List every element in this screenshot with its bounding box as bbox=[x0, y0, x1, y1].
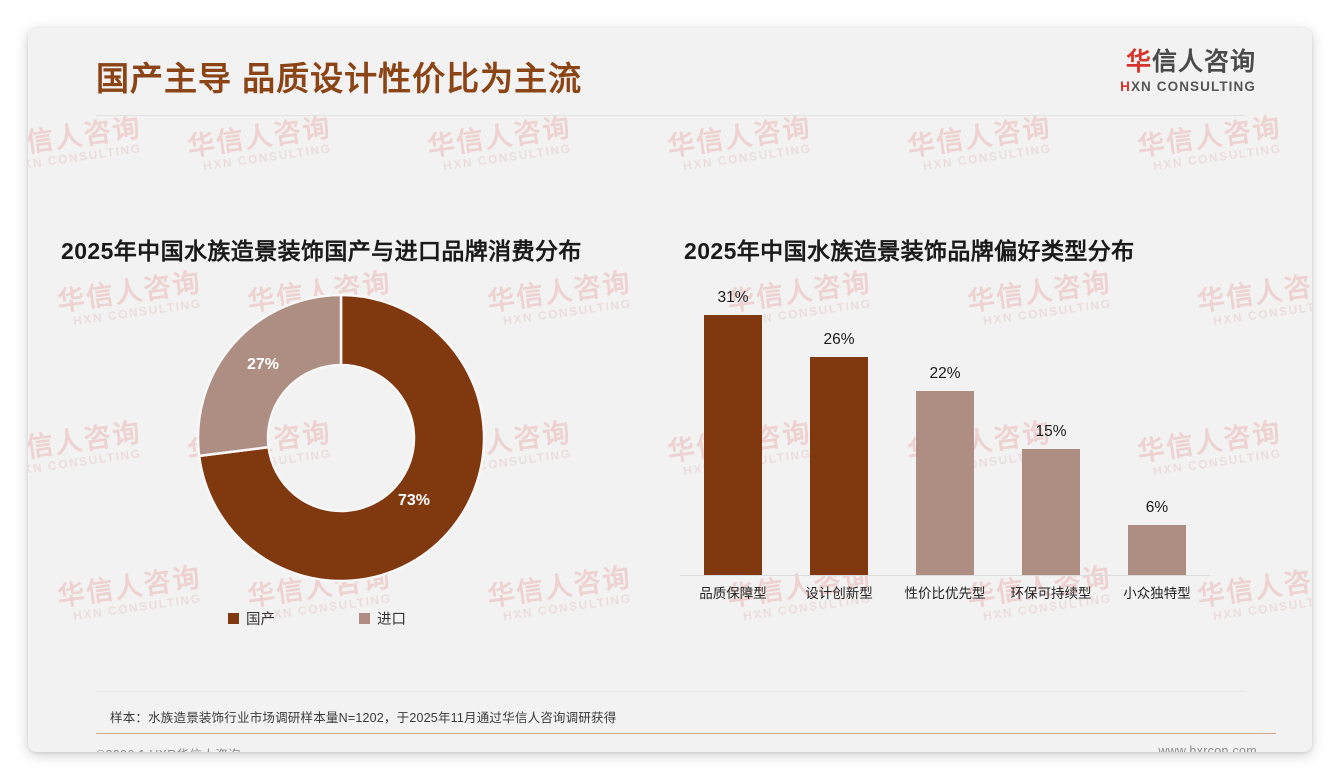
copyright-text: ©2026.1 HXR华信人咨询 bbox=[96, 744, 241, 752]
watermark: 华信人咨询HXN CONSULTING bbox=[666, 113, 815, 175]
bar-category-label: 设计创新型 bbox=[784, 582, 894, 602]
logo-cn-rest: 信人咨询 bbox=[1152, 48, 1256, 76]
logo-accent-char: 华 bbox=[1126, 48, 1152, 76]
bar-chart-title: 2025年中国水族造景装饰品牌偏好类型分布 bbox=[684, 232, 1135, 266]
watermark-en: HXN CONSULTING bbox=[200, 141, 336, 174]
watermark: 华信人咨询HXN CONSULTING bbox=[28, 113, 145, 175]
watermark-cn: 华信人咨询 bbox=[28, 113, 143, 161]
bar-column: 6% bbox=[1107, 290, 1207, 575]
slide-footer: ©2026.1 HXR华信人咨询 www.hxrcon.com bbox=[28, 740, 1312, 752]
logo-en-rest: XN CONSULTING bbox=[1131, 79, 1256, 94]
bar-column: 15% bbox=[1001, 290, 1101, 575]
legend-swatch-imported bbox=[359, 613, 370, 624]
bar-value-label: 15% bbox=[1001, 423, 1101, 441]
watermark-cn: 华信人咨询 bbox=[186, 113, 334, 161]
note-divider-top bbox=[96, 691, 1246, 692]
bar-value-label: 31% bbox=[683, 289, 783, 307]
watermark-en: HXN CONSULTING bbox=[920, 141, 1056, 174]
bar-2[interactable] bbox=[810, 357, 868, 575]
bar-value-label: 6% bbox=[1107, 499, 1207, 517]
company-logo: 华信人咨询 HXN CONSULTING bbox=[1120, 48, 1256, 94]
header-divider bbox=[96, 115, 1246, 116]
watermark-en: HXN CONSULTING bbox=[680, 141, 816, 174]
legend-label-imported: 进口 bbox=[377, 608, 406, 629]
watermark: 华信人咨询HXN CONSULTING bbox=[426, 113, 575, 175]
bar-category-label: 品质保障型 bbox=[678, 582, 788, 602]
donut-slice-imported[interactable] bbox=[198, 295, 341, 456]
slide: 华信人咨询HXN CONSULTING华信人咨询HXN CONSULTING华信… bbox=[28, 28, 1312, 752]
sample-note: 样本：水族造景装饰行业市场调研样本量N=1202，于2025年11月通过华信人咨… bbox=[110, 707, 616, 726]
watermark-cn: 华信人咨询 bbox=[906, 113, 1054, 161]
bar-5[interactable] bbox=[1128, 525, 1186, 575]
bar-column: 31% bbox=[683, 290, 783, 575]
legend-label-domestic: 国产 bbox=[246, 608, 275, 629]
watermark: 华信人咨询HXN CONSULTING bbox=[186, 113, 335, 175]
legend-item-imported[interactable]: 进口 bbox=[359, 608, 406, 629]
bar-4[interactable] bbox=[1022, 449, 1080, 575]
bar-value-label: 22% bbox=[895, 365, 995, 383]
bar-category-label: 环保可持续型 bbox=[996, 582, 1106, 602]
logo-cn-text: 华信人咨询 bbox=[1120, 48, 1256, 77]
logo-en-text: HXN CONSULTING bbox=[1120, 79, 1256, 94]
slide-header: 国产主导 品质设计性价比为主流 华信人咨询 HXN CONSULTING bbox=[28, 28, 1312, 110]
watermark-cn: 华信人咨询 bbox=[426, 113, 574, 161]
donut-chart-panel: 2025年中国水族造景装饰国产与进口品牌消费分布 73% 27% 国产 bbox=[28, 178, 670, 648]
bar-chart-panel: 2025年中国水族造景装饰品牌偏好类型分布 31%26%22%15%6% 品质保… bbox=[670, 178, 1312, 648]
bar-chart-plot: 31%26%22%15%6% bbox=[680, 290, 1210, 575]
logo-en-accent: H bbox=[1120, 79, 1131, 94]
bar-3[interactable] bbox=[916, 391, 974, 575]
bar-chart-category-labels: 品质保障型设计创新型性价比优先型环保可持续型小众独特型 bbox=[680, 582, 1210, 608]
charts-container: 2025年中国水族造景装饰国产与进口品牌消费分布 73% 27% 国产 bbox=[28, 178, 1312, 648]
watermark-cn: 华信人咨询 bbox=[1136, 113, 1284, 161]
donut-svg bbox=[191, 288, 491, 588]
bar-column: 22% bbox=[895, 290, 995, 575]
watermark-en: HXN CONSULTING bbox=[28, 141, 145, 174]
bar-column: 26% bbox=[789, 290, 889, 575]
donut-legend: 国产 进口 bbox=[228, 608, 406, 629]
donut-chart: 73% 27% bbox=[191, 288, 491, 588]
bar-1[interactable] bbox=[704, 315, 762, 575]
bar-value-label: 26% bbox=[789, 331, 889, 349]
legend-item-domestic[interactable]: 国产 bbox=[228, 608, 275, 629]
bar-category-label: 性价比优先型 bbox=[890, 582, 1000, 602]
bar-category-label: 小众独特型 bbox=[1102, 582, 1212, 602]
watermark: 华信人咨询HXN CONSULTING bbox=[1136, 113, 1285, 175]
watermark: 华信人咨询HXN CONSULTING bbox=[906, 113, 1055, 175]
page-title: 国产主导 品质设计性价比为主流 bbox=[96, 52, 582, 100]
watermark-cn: 华信人咨询 bbox=[666, 113, 814, 161]
note-divider-bottom bbox=[96, 733, 1276, 734]
donut-chart-title: 2025年中国水族造景装饰国产与进口品牌消费分布 bbox=[61, 232, 582, 266]
watermark-en: HXN CONSULTING bbox=[440, 141, 576, 174]
bar-chart-axis-line bbox=[680, 575, 1210, 576]
website-link[interactable]: www.hxrcon.com bbox=[1158, 744, 1257, 752]
watermark-en: HXN CONSULTING bbox=[1150, 141, 1286, 174]
legend-swatch-domestic bbox=[228, 613, 239, 624]
